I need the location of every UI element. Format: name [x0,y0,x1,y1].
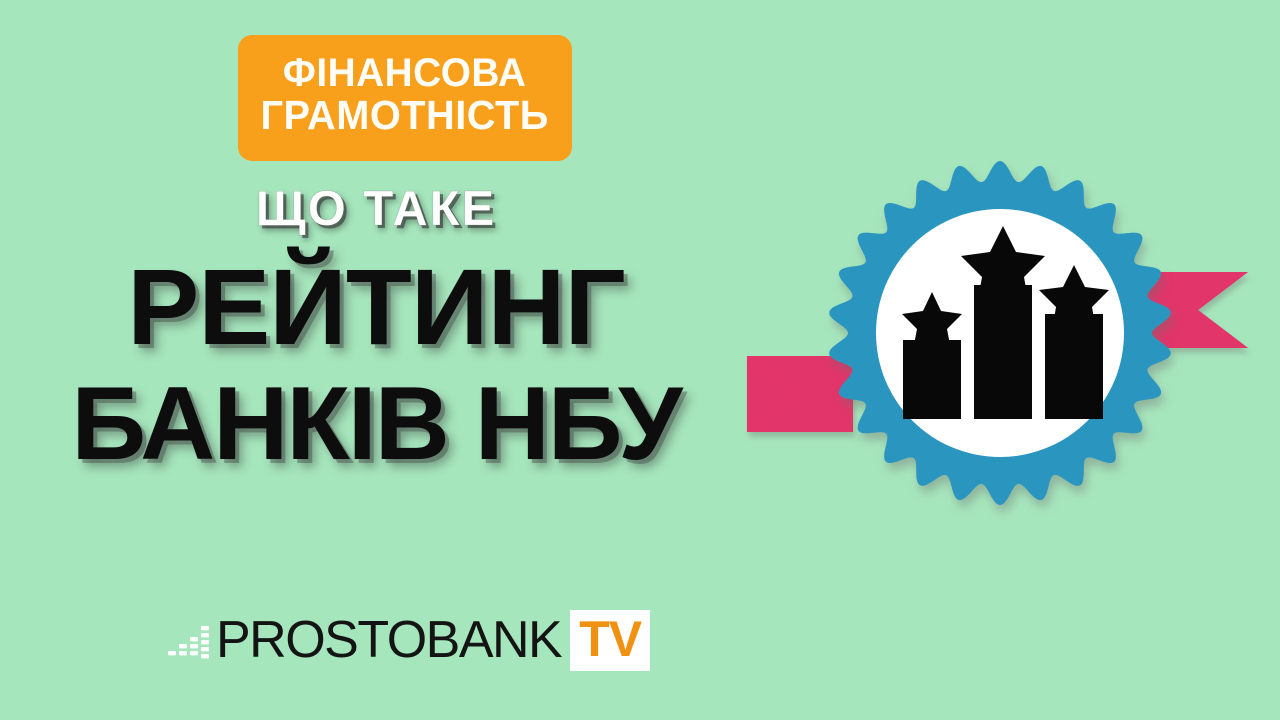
brand-tv-chip: TV [570,610,650,671]
headline-block: ЩО ТАКЕ РЕЙТИНГ БАНКІВ НБУ [0,185,752,473]
bar-center [974,285,1032,419]
headline-kicker: ЩО ТАКЕ [0,185,752,234]
headline-title-line-1: РЕЙТИНГ [0,256,752,359]
category-badge: ФІНАНСОВА ГРАМОТНІСТЬ [238,35,572,161]
category-badge-line-1: ФІНАНСОВА [283,53,527,95]
headline-title-line-2: БАНКІВ НБУ [0,375,752,474]
bar-left [903,340,961,419]
video-title-card: ФІНАНСОВА ГРАМОТНІСТЬ ЩО ТАКЕ РЕЙТИНГ БА… [0,0,1280,720]
award-badge-graphic [735,118,1260,548]
ribbon-left-icon [747,356,853,432]
brand-wordmark: PROSTOBANK [216,614,561,666]
category-badge-line-2: ГРАМОТНІСТЬ [261,94,549,137]
brand-logo: PROSTOBANK TV [168,612,650,668]
equalizer-bars-icon [168,621,210,659]
